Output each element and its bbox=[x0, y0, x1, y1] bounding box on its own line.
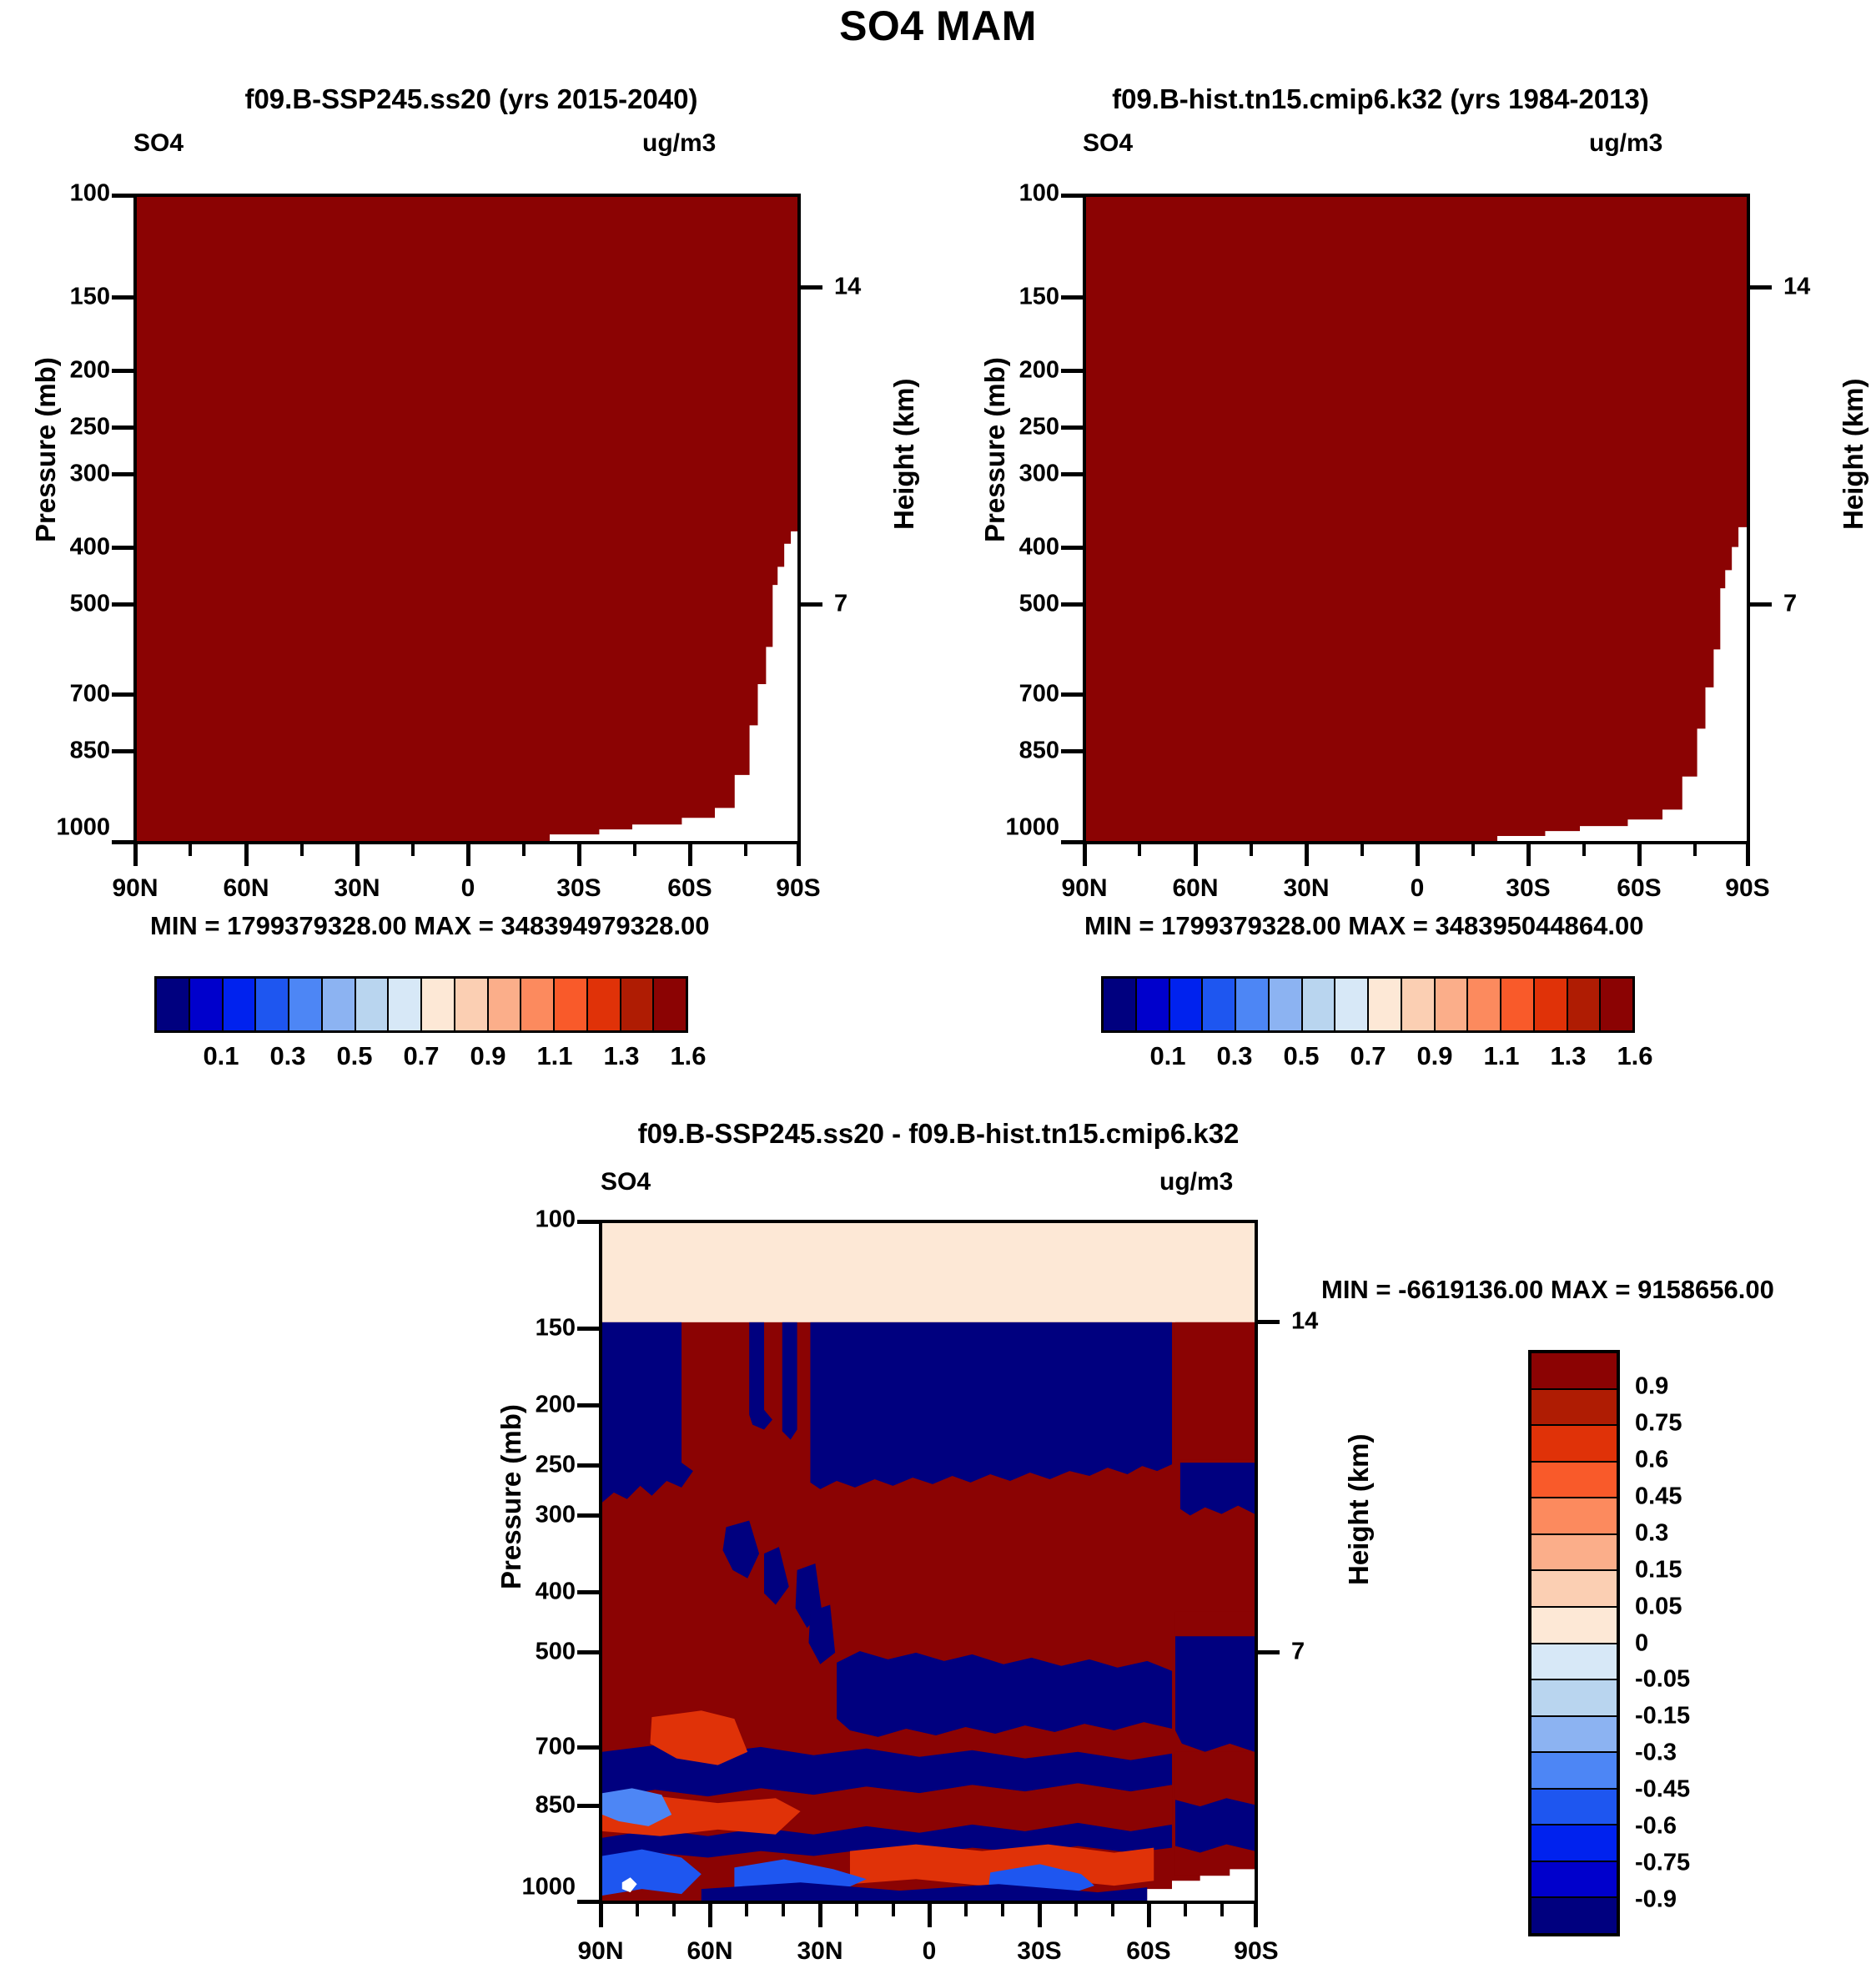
ytick-label: 150 bbox=[536, 1315, 576, 1342]
xtick-label: 0 bbox=[1411, 874, 1425, 903]
ytick-label: 100 bbox=[536, 1206, 576, 1234]
colorbar-cell bbox=[1531, 1862, 1617, 1899]
y-axis-diff-panel: 100 150 200 250 300 400 500 700 850 1000 bbox=[465, 1220, 599, 1904]
colorbar-cell bbox=[555, 979, 588, 1030]
x-axis-diff-panel: 90N 60N 30N 0 30S 60S 90S bbox=[599, 1904, 1258, 1979]
ytick-label: 500 bbox=[1019, 591, 1059, 618]
colorbar-tick-label: 0.45 bbox=[1635, 1483, 1682, 1510]
xtick-label: 30S bbox=[556, 874, 601, 903]
contour-fill-right bbox=[1086, 197, 1747, 841]
colorbar-tick-label: 0.3 bbox=[269, 1041, 305, 1071]
colorbar-tick-label: -0.6 bbox=[1635, 1813, 1677, 1841]
colorbar-tick-label: 0.9 bbox=[1635, 1372, 1668, 1400]
xtick-label: 60N bbox=[223, 874, 269, 903]
ytick-label: 300 bbox=[70, 461, 110, 488]
colorbar-tick-label: -0.75 bbox=[1635, 1850, 1690, 1877]
colorbar-cell bbox=[1303, 979, 1336, 1030]
colorbar-cell bbox=[1531, 1571, 1617, 1608]
colorbar-cell bbox=[1436, 979, 1469, 1030]
colorbar-cell bbox=[1531, 1498, 1617, 1535]
plot-area-left[interactable] bbox=[133, 194, 801, 844]
colorbar-cell bbox=[1335, 979, 1369, 1030]
ytick-label: 100 bbox=[1019, 180, 1059, 208]
minmax-diff: MIN = -6619136.00 MAX = 9158656.00 bbox=[1321, 1275, 1774, 1305]
colorbar-cell bbox=[1137, 979, 1170, 1030]
plot-area-diff[interactable] bbox=[599, 1220, 1258, 1904]
figure-title: SO4 MAM bbox=[0, 2, 1876, 50]
ytick-label: 700 bbox=[70, 681, 110, 708]
colorbar-tick-label: -0.3 bbox=[1635, 1740, 1677, 1767]
colorbar-right-labels: 0.10.30.50.70.91.11.31.6 bbox=[1101, 1041, 1635, 1078]
ytick-label: 150 bbox=[70, 284, 110, 311]
colorbar-cell bbox=[1568, 979, 1602, 1030]
colorbar-tick-label: 0.9 bbox=[470, 1041, 505, 1071]
xtick-label: 90S bbox=[776, 874, 820, 903]
minmax-left: MIN = 1799379328.00 MAX = 348394979328.0… bbox=[150, 911, 709, 941]
colorbar-cell bbox=[588, 979, 621, 1030]
colorbar-tick-label: 0.15 bbox=[1635, 1556, 1682, 1584]
colorbar-cell bbox=[224, 979, 257, 1030]
ytick-label: 850 bbox=[1019, 738, 1059, 765]
colorbar-tick-label: 0.05 bbox=[1635, 1593, 1682, 1620]
colorbar-cell bbox=[1531, 1825, 1617, 1862]
xtick-label: 0 bbox=[461, 874, 475, 903]
colorbar-cell bbox=[1531, 1717, 1617, 1754]
ytick-label: 250 bbox=[1019, 414, 1059, 441]
colorbar-tick-label: 0.1 bbox=[203, 1041, 239, 1071]
colorbar-cell bbox=[1369, 979, 1402, 1030]
ytick-label: 100 bbox=[70, 180, 110, 208]
plot-area-right[interactable] bbox=[1083, 194, 1750, 844]
panel-right-corner-units: ug/m3 bbox=[1589, 129, 1662, 158]
ytick-label: 150 bbox=[1019, 284, 1059, 311]
colorbar-cell bbox=[1531, 1353, 1617, 1390]
ytick-label: 700 bbox=[536, 1734, 576, 1761]
colorbar-cell bbox=[1531, 1390, 1617, 1427]
colorbar-cell bbox=[1236, 979, 1270, 1030]
colorbar-tick-label: 1.1 bbox=[1483, 1041, 1519, 1071]
colorbar-cell bbox=[1601, 979, 1632, 1030]
y-axis-left-panel: 100 150 200 250 300 400 500 700 850 1000 bbox=[0, 194, 133, 844]
panel-left-corner-units: ug/m3 bbox=[642, 129, 716, 158]
colorbar-cell bbox=[1531, 1535, 1617, 1572]
ytick-label: 400 bbox=[1019, 534, 1059, 561]
y-axis-title-right-panel: Pressure (mb) bbox=[979, 357, 1011, 542]
panel-right-corner-variable: SO4 bbox=[1083, 129, 1133, 158]
colorbar-cell bbox=[1531, 1898, 1617, 1933]
colorbar-cell bbox=[1531, 1644, 1617, 1681]
xtick-label: 30N bbox=[1283, 874, 1329, 903]
colorbar-right[interactable] bbox=[1101, 976, 1635, 1033]
xtick-label: 30S bbox=[1506, 874, 1550, 903]
ytick-label: 200 bbox=[536, 1392, 576, 1419]
colorbar-cell bbox=[289, 979, 323, 1030]
colorbar-cell bbox=[455, 979, 489, 1030]
colorbar-cell bbox=[621, 979, 655, 1030]
xtick-label: 60N bbox=[1172, 874, 1218, 903]
xtick-label: 60N bbox=[687, 1937, 732, 1966]
colorbar-left[interactable] bbox=[154, 976, 688, 1033]
height-tick-label: 14 bbox=[1783, 274, 1810, 301]
panel-title-left: f09.B-SSP245.ss20 (yrs 2015-2040) bbox=[50, 83, 893, 115]
contour-fill-diff bbox=[602, 1223, 1255, 1901]
ytick-label: 250 bbox=[536, 1452, 576, 1479]
colorbar-tick-label: 0 bbox=[1635, 1629, 1648, 1657]
colorbar-tick-label: 1.3 bbox=[1550, 1041, 1586, 1071]
colorbar-cell bbox=[654, 979, 686, 1030]
xtick-label: 90N bbox=[577, 1937, 623, 1966]
xtick-label: 90S bbox=[1234, 1937, 1278, 1966]
height-tick-label: 14 bbox=[834, 274, 861, 301]
colorbar-cell bbox=[1531, 1753, 1617, 1790]
colorbar-cell bbox=[1501, 979, 1535, 1030]
colorbar-tick-label: -0.9 bbox=[1635, 1886, 1677, 1914]
panel-diff-corner-variable: SO4 bbox=[601, 1168, 651, 1196]
colorbar-tick-label: -0.15 bbox=[1635, 1703, 1690, 1730]
xtick-label: 90N bbox=[1061, 874, 1107, 903]
x-axis-right-panel: 90N 60N 30N 0 30S 60S 90S bbox=[1083, 844, 1750, 911]
height-tick-label: 7 bbox=[834, 591, 847, 618]
colorbar-tick-label: 0.6 bbox=[1635, 1446, 1668, 1473]
height-axis-title-right: Height (km) bbox=[1838, 379, 1869, 531]
contour-fill-left bbox=[137, 197, 797, 841]
colorbar-tick-label: 0.7 bbox=[403, 1041, 439, 1071]
colorbar-tick-label: -0.05 bbox=[1635, 1666, 1690, 1694]
colorbar-tick-label: 1.6 bbox=[1617, 1041, 1652, 1071]
colorbar-cell bbox=[256, 979, 289, 1030]
xtick-label: 30N bbox=[334, 874, 380, 903]
ytick-label: 300 bbox=[1019, 461, 1059, 488]
colorbar-cell bbox=[1203, 979, 1236, 1030]
colorbar-cell bbox=[190, 979, 224, 1030]
colorbar-tick-label: 0.9 bbox=[1416, 1041, 1452, 1071]
colorbar-cell bbox=[323, 979, 356, 1030]
x-axis-left-panel: 90N 60N 30N 0 30S 60S 90S bbox=[133, 844, 801, 911]
xtick-label: 60S bbox=[667, 874, 712, 903]
ytick-label: 300 bbox=[536, 1502, 576, 1529]
panel-title-diff: f09.B-SSP245.ss20 - f09.B-hist.tn15.cmip… bbox=[475, 1118, 1401, 1150]
colorbar-cell bbox=[1402, 979, 1436, 1030]
colorbar-tick-label: 1.3 bbox=[603, 1041, 639, 1071]
colorbar-cell bbox=[1468, 979, 1501, 1030]
ytick-label: 1000 bbox=[1005, 814, 1059, 842]
colorbar-tick-label: 1.1 bbox=[536, 1041, 572, 1071]
height-axis-title-left: Height (km) bbox=[888, 379, 920, 531]
height-tick-label: 14 bbox=[1291, 1308, 1318, 1336]
panel-diff-corner-units: ug/m3 bbox=[1159, 1168, 1233, 1196]
xtick-label: 90N bbox=[112, 874, 158, 903]
xtick-label: 30N bbox=[797, 1937, 842, 1966]
xtick-label: 60S bbox=[1617, 874, 1661, 903]
height-tick-label: 7 bbox=[1783, 591, 1797, 618]
colorbar-cell bbox=[1531, 1680, 1617, 1717]
ytick-label: 850 bbox=[536, 1792, 576, 1820]
colorbar-cell bbox=[1531, 1426, 1617, 1463]
ytick-label: 400 bbox=[536, 1579, 576, 1606]
ytick-label: 1000 bbox=[521, 1874, 576, 1901]
colorbar-cell bbox=[1270, 979, 1303, 1030]
ytick-label: 250 bbox=[70, 414, 110, 441]
colorbar-cell bbox=[1531, 1608, 1617, 1644]
colorbar-diff[interactable] bbox=[1528, 1350, 1620, 1936]
y-axis-title-left: Pressure (mb) bbox=[30, 357, 62, 542]
colorbar-tick-label: 0.1 bbox=[1149, 1041, 1185, 1071]
colorbar-tick-label: 1.6 bbox=[670, 1041, 706, 1071]
colorbar-cell bbox=[1535, 979, 1568, 1030]
y-axis-right-panel: 100 150 200 250 300 400 500 700 850 1000 bbox=[949, 194, 1083, 844]
colorbar-left-labels: 0.10.30.50.70.91.11.31.6 bbox=[154, 1041, 688, 1078]
height-axis-title-diff: Height (km) bbox=[1343, 1434, 1375, 1586]
colorbar-cell bbox=[1531, 1790, 1617, 1826]
colorbar-cell bbox=[356, 979, 390, 1030]
ytick-label: 500 bbox=[536, 1639, 576, 1666]
ytick-label: 500 bbox=[70, 591, 110, 618]
colorbar-tick-label: 0.3 bbox=[1216, 1041, 1252, 1071]
ytick-label: 200 bbox=[1019, 357, 1059, 385]
xtick-label: 30S bbox=[1017, 1937, 1061, 1966]
colorbar-cell bbox=[1104, 979, 1137, 1030]
colorbar-cell bbox=[422, 979, 455, 1030]
minmax-right: MIN = 1799379328.00 MAX = 348395044864.0… bbox=[1084, 911, 1643, 941]
panel-title-right: f09.B-hist.tn15.cmip6.k32 (yrs 1984-2013… bbox=[959, 83, 1802, 115]
panel-left-corner-variable: SO4 bbox=[133, 129, 184, 158]
colorbar-cell bbox=[1531, 1463, 1617, 1499]
xtick-label: 90S bbox=[1725, 874, 1769, 903]
ytick-label: 850 bbox=[70, 738, 110, 765]
colorbar-cell bbox=[389, 979, 422, 1030]
xtick-label: 0 bbox=[923, 1937, 937, 1966]
colorbar-cell bbox=[489, 979, 522, 1030]
xtick-label: 60S bbox=[1126, 1937, 1170, 1966]
colorbar-tick-label: 0.75 bbox=[1635, 1409, 1682, 1437]
colorbar-cell bbox=[1170, 979, 1204, 1030]
ytick-label: 200 bbox=[70, 357, 110, 385]
colorbar-tick-label: 0.5 bbox=[336, 1041, 372, 1071]
colorbar-cell bbox=[521, 979, 555, 1030]
colorbar-tick-label: 0.7 bbox=[1350, 1041, 1386, 1071]
colorbar-tick-label: -0.45 bbox=[1635, 1776, 1690, 1804]
ytick-label: 1000 bbox=[56, 814, 110, 842]
ytick-label: 700 bbox=[1019, 681, 1059, 708]
colorbar-tick-label: 0.3 bbox=[1635, 1519, 1668, 1547]
ytick-label: 400 bbox=[70, 534, 110, 561]
height-tick-label: 7 bbox=[1291, 1639, 1305, 1666]
colorbar-tick-label: 0.5 bbox=[1283, 1041, 1319, 1071]
y-axis-title-diff: Pressure (mb) bbox=[495, 1404, 527, 1589]
colorbar-cell bbox=[157, 979, 190, 1030]
colorbar-diff-labels: 0.90.750.60.450.30.150.050-0.05-0.15-0.3… bbox=[1635, 1350, 1785, 1936]
